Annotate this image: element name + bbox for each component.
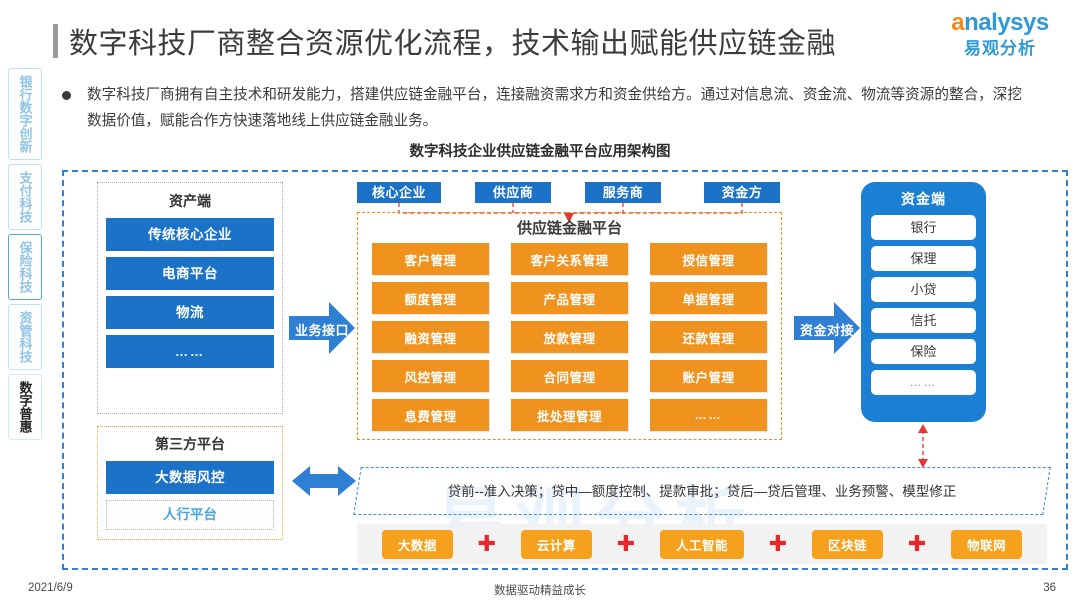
module-batch-processing[interactable]: 批处理管理 (511, 399, 628, 431)
footer-page-number: 36 (1043, 582, 1056, 594)
logo-wordmark: analysys (936, 8, 1064, 38)
asset-item-more[interactable]: …… (106, 335, 274, 368)
role-chip-capital-provider[interactable]: 资金方 (704, 182, 780, 203)
module-risk-control[interactable]: 风控管理 (372, 360, 489, 392)
title-accent-bar (53, 24, 58, 58)
platform-title: 供应链金融平台 (358, 217, 781, 238)
third-party-item-pboc-platform[interactable]: 人行平台 (106, 500, 274, 530)
plus-icon: ✚ (478, 533, 496, 555)
module-account-management[interactable]: 账户管理 (650, 360, 767, 392)
third-party-item-big-data-risk-control[interactable]: 大数据风控 (106, 461, 274, 494)
logo-letter-a: a (951, 9, 964, 36)
module-crm[interactable]: 客户关系管理 (511, 243, 628, 275)
asset-item-ecommerce-platform[interactable]: 电商平台 (106, 257, 274, 290)
sidebar-item-label: 保险科技 (17, 241, 34, 293)
module-document-management[interactable]: 单据管理 (650, 282, 767, 314)
logo-wordmark-rest: nalysys (964, 9, 1049, 36)
sidebar-item-label: 支付科技 (17, 171, 34, 223)
title-text: 数字科技厂商整合资源优化流程，技术输出赋能供应链金融 (69, 20, 836, 62)
bullet-dot-icon (62, 91, 71, 100)
third-party-platform-panel: 第三方平台 大数据风控 人行平台 (97, 426, 283, 540)
module-credit-granting[interactable]: 授信管理 (650, 243, 767, 275)
tech-tag-artificial-intelligence[interactable]: 人工智能 (660, 530, 744, 559)
module-interest-fee-management[interactable]: 息费管理 (372, 399, 489, 431)
funding-item-insurance[interactable]: 保险 (871, 339, 976, 364)
module-product-management[interactable]: 产品管理 (511, 282, 628, 314)
sidebar-item-insurance-tech[interactable]: 保险科技 (8, 234, 42, 300)
slide-footer: 2021/6/9 数据驱动精益成长 36 (0, 582, 1080, 598)
logo-chinese-name: 易观分析 (936, 38, 1064, 60)
tech-tag-cloud-computing[interactable]: 云计算 (521, 530, 592, 559)
module-contract-management[interactable]: 合同管理 (511, 360, 628, 392)
analysys-logo: analysys 易观分析 (936, 8, 1064, 64)
funding-item-microloan[interactable]: 小贷 (871, 277, 976, 302)
sidebar-item-bank-digital-innovation[interactable]: 银行数字创新 (8, 68, 42, 160)
page-title: 数字科技厂商整合资源优化流程，技术输出赋能供应链金融 (53, 19, 923, 63)
module-repayment-management[interactable]: 还款管理 (650, 321, 767, 353)
funding-item-factoring[interactable]: 保理 (871, 246, 976, 271)
module-loan-disbursement[interactable]: 放款管理 (511, 321, 628, 353)
asset-panel-title: 资产端 (106, 191, 274, 211)
fund-lifecycle-link-arrow-icon (913, 424, 933, 468)
sidebar-item-label: 资管科技 (17, 311, 34, 363)
module-financing-management[interactable]: 融资管理 (372, 321, 489, 353)
technology-stack-strip: 大数据 ✚ 云计算 ✚ 人工智能 ✚ 区块链 ✚ 物联网 (357, 524, 1047, 564)
bidirectional-arrow-icon (292, 462, 356, 500)
module-quota-management[interactable]: 额度管理 (372, 282, 489, 314)
sidebar-item-asset-management-tech[interactable]: 资管科技 (8, 304, 42, 370)
sidebar-tabs: 银行数字创新 支付科技 保险科技 资管科技 数字普惠 (8, 68, 42, 444)
asset-item-traditional-core-enterprise[interactable]: 传统核心企业 (106, 218, 274, 251)
third-party-panel-title: 第三方平台 (106, 434, 274, 454)
tech-tag-blockchain[interactable]: 区块链 (812, 530, 883, 559)
funding-item-more[interactable]: …… (871, 370, 976, 395)
role-chip-service-provider[interactable]: 服务商 (585, 182, 661, 203)
asset-side-panel: 资产端 传统核心企业 电商平台 物流 …… (97, 182, 283, 414)
platform-module-grid: 客户管理 客户关系管理 授信管理 额度管理 产品管理 单据管理 融资管理 放款管… (372, 243, 767, 431)
bullet-text: 数字科技厂商拥有自主技术和研发能力，搭建供应链金融平台，连接融资需求方和资金供给… (87, 82, 1022, 134)
tech-tag-big-data[interactable]: 大数据 (382, 530, 453, 559)
supply-chain-finance-platform: 供应链金融平台 客户管理 客户关系管理 授信管理 额度管理 产品管理 单据管理 … (357, 212, 782, 440)
role-chip-supplier[interactable]: 供应商 (475, 182, 551, 203)
module-customer-management[interactable]: 客户管理 (372, 243, 489, 275)
asset-item-logistics[interactable]: 物流 (106, 296, 274, 329)
figure-caption: 数字科技企业供应链金融平台应用架构图 (0, 140, 1080, 161)
sidebar-item-digital-inclusive-finance[interactable]: 数字普惠 (8, 374, 42, 440)
role-chip-core-enterprise[interactable]: 核心企业 (357, 182, 441, 203)
fund-docking-arrow-label: 资金对接 (800, 320, 854, 339)
plus-icon: ✚ (617, 533, 635, 555)
funding-panel-title: 资金端 (871, 189, 976, 209)
module-more[interactable]: …… (650, 399, 767, 431)
bullet-paragraph: 数字科技厂商拥有自主技术和研发能力，搭建供应链金融平台，连接融资需求方和资金供给… (62, 82, 1022, 134)
business-interface-arrow-label: 业务接口 (295, 320, 349, 339)
footer-slogan: 数据驱动精益成长 (0, 582, 1080, 598)
funding-side-panel: 资金端 银行 保理 小贷 信托 保险 …… (861, 182, 986, 422)
architecture-diagram: 易观分析 资产端 传统核心企业 电商平台 物流 …… 第三方平台 大数据风控 人… (62, 170, 1068, 570)
funding-item-trust[interactable]: 信托 (871, 308, 976, 333)
plus-icon: ✚ (769, 533, 787, 555)
sidebar-item-label: 数字普惠 (17, 381, 34, 433)
sidebar-item-payment-tech[interactable]: 支付科技 (8, 164, 42, 230)
tech-tag-iot[interactable]: 物联网 (951, 530, 1022, 559)
funding-item-bank[interactable]: 银行 (871, 215, 976, 240)
loan-lifecycle-text: 贷前--准入决策；贷中—额度控制、提款审批；贷后—贷后管理、业务预警、模型修正 (364, 470, 1040, 514)
plus-icon: ✚ (908, 533, 926, 555)
sidebar-item-label: 银行数字创新 (17, 75, 34, 153)
